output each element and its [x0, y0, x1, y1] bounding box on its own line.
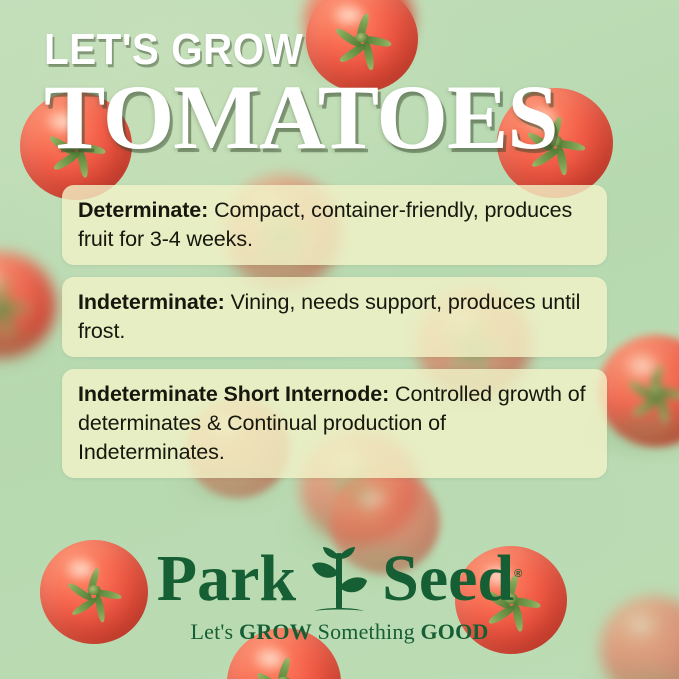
brand-word-seed: Seed® — [382, 546, 522, 612]
tagline-lets: Let's — [190, 619, 239, 644]
info-card-term: Indeterminate Short Internode: — [78, 382, 389, 406]
info-card-list: Determinate: Compact, container-friendly… — [62, 185, 607, 478]
tagline-something: Something — [312, 619, 421, 644]
info-card-indeterminate-short-internode: Indeterminate Short Internode: Controlle… — [62, 369, 607, 478]
brand-tagline: Let's GROW Something GOOD — [0, 619, 679, 645]
registered-mark: ® — [514, 568, 522, 580]
tagline-grow: GROW — [239, 619, 312, 644]
sprout-icon — [310, 545, 368, 617]
poster-canvas: LET'S GROW TOMATOES Determinate: Compact… — [0, 0, 679, 679]
info-card-term: Indeterminate: — [78, 290, 225, 314]
brand-logo-row: Park Seed® — [0, 543, 679, 615]
page-title: TOMATOES — [44, 74, 644, 161]
brand-word-park: Park — [157, 546, 296, 612]
info-card-term: Determinate: — [78, 198, 208, 222]
brand-logo: Park Seed® Let's GROW Somethi — [0, 543, 679, 645]
headline-block: LET'S GROW TOMATOES — [44, 28, 644, 161]
info-card-indeterminate: Indeterminate: Vining, needs support, pr… — [62, 277, 607, 357]
tagline-good: GOOD — [420, 619, 488, 644]
info-card-determinate: Determinate: Compact, container-friendly… — [62, 185, 607, 265]
